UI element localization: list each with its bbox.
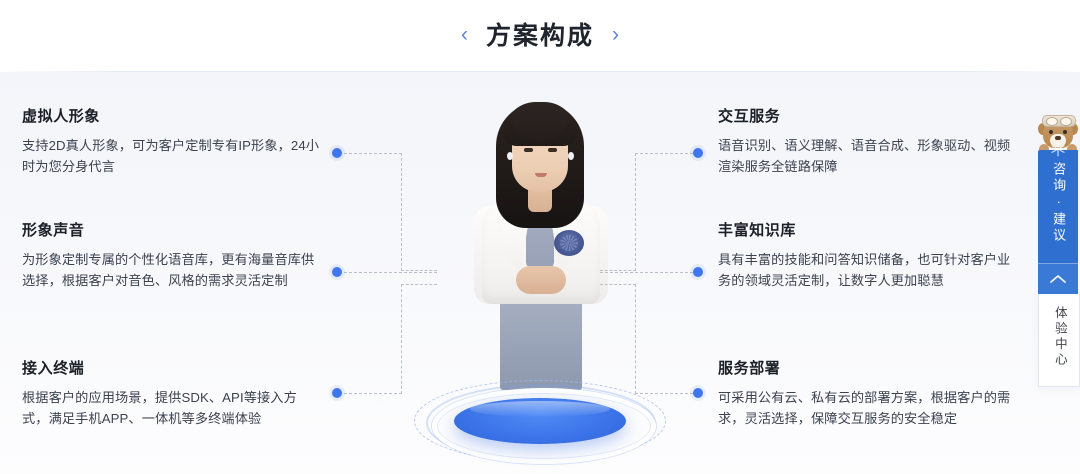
connector-left-join-lower xyxy=(401,284,437,285)
mascot-goggles-icon xyxy=(1042,115,1076,127)
mascot-eye-left xyxy=(1049,130,1053,134)
presenter-eye-left xyxy=(524,148,533,152)
feature-title: 虚拟人形象 xyxy=(22,108,322,126)
feature-description: 为形象定制专属的个性化语音库，更有海量音库供选择，根据客户对音色、风格的需求灵活… xyxy=(22,249,322,292)
feature-title: 交互服务 xyxy=(718,108,1018,126)
node-dot-left-3[interactable] xyxy=(332,388,342,398)
connector-left-1-horizontal xyxy=(344,153,402,154)
experience-center-button[interactable]: 体验中心 xyxy=(1038,294,1080,387)
feature-title: 服务部署 xyxy=(718,360,1018,378)
node-dot-left-2[interactable] xyxy=(332,267,342,277)
collapse-button[interactable] xyxy=(1038,263,1078,294)
consult-button-label: 咨询·建议 xyxy=(1051,162,1065,244)
page-title: 方案构成 xyxy=(486,16,594,52)
feature-description: 具有丰富的技能和问答知识储备，也可针对客户业务的领域灵活定制，让数字人更加聪慧 xyxy=(718,249,1018,292)
page-root: ‹ 方案构成 › xyxy=(0,0,1080,474)
feature-card-deployment: 服务部署 可采用公有云、私有云的部署方案，根据客户的需求，灵活选择，保障交互服务… xyxy=(718,360,1018,474)
right-feature-column: 交互服务 语音识别、语义理解、语音合成、形象驱动、视频渲染服务全链路保障 丰富知… xyxy=(718,108,1018,474)
presenter-hands xyxy=(516,266,566,294)
feature-card-terminal: 接入终端 根据客户的应用场景，提供SDK、API等接入方式，满足手机APP、一体… xyxy=(22,360,322,474)
connector-right-join-lower xyxy=(600,284,636,285)
mascot-eye-right xyxy=(1063,130,1067,134)
presenter-brooch xyxy=(554,230,584,256)
left-feature-column: 虚拟人形象 支持2D真人形象，可为客户定制专有IP形象，24小时为您分身代言 形… xyxy=(22,108,322,474)
connector-left-join-upper xyxy=(401,270,437,271)
feature-description: 语音识别、语义理解、语音合成、形象驱动、视频渲染服务全链路保障 xyxy=(718,135,1018,178)
experience-center-label: 体验中心 xyxy=(1052,306,1066,368)
feature-title: 丰富知识库 xyxy=(718,222,1018,240)
connector-left-vertical-lower xyxy=(401,284,402,394)
node-dot-right-1[interactable] xyxy=(693,148,703,158)
feature-title: 接入终端 xyxy=(22,360,322,378)
feature-description: 可采用公有云、私有云的部署方案，根据客户的需求，灵活选择，保障交互服务的安全稳定 xyxy=(718,387,1018,430)
background-divider xyxy=(0,71,1080,72)
section-title-row: ‹ 方案构成 › xyxy=(461,16,619,52)
node-dot-left-1[interactable] xyxy=(332,148,342,158)
connector-left-3-horizontal xyxy=(344,393,402,394)
connector-left-2-horizontal xyxy=(344,272,437,273)
connector-left-vertical-upper xyxy=(401,153,402,271)
chevron-left-icon[interactable]: ‹ xyxy=(461,24,468,45)
presenter-earring-right xyxy=(568,152,574,160)
feature-card-interaction: 交互服务 语音识别、语义理解、语音合成、形象驱动、视频渲染服务全链路保障 xyxy=(718,108,1018,204)
presenter-eye-right xyxy=(548,148,557,152)
connector-right-2-horizontal xyxy=(600,272,693,273)
presenter-earring-left xyxy=(507,152,513,160)
feature-description: 根据客户的应用场景，提供SDK、API等接入方式，满足手机APP、一体机等多终端… xyxy=(22,387,322,430)
feature-title: 形象声音 xyxy=(22,222,322,240)
virtual-human-figure xyxy=(410,78,670,474)
presenter-illustration xyxy=(444,78,636,408)
snowflake-icon xyxy=(1049,140,1067,158)
presenter-hair-front xyxy=(504,102,576,146)
feature-card-knowledge: 丰富知识库 具有丰富的技能和问答知识储备，也可针对客户业务的领域灵活定制，让数字… xyxy=(718,222,1018,342)
connector-right-vertical-upper xyxy=(635,153,636,271)
node-dot-right-3[interactable] xyxy=(693,388,703,398)
connector-right-1-horizontal xyxy=(635,153,693,154)
connector-right-join-upper xyxy=(600,270,636,271)
connector-right-3-horizontal xyxy=(635,393,693,394)
stage-platform xyxy=(410,374,670,470)
section-title-wrapper: ‹ 方案构成 › xyxy=(0,16,1080,52)
stage-disc-highlight xyxy=(470,401,610,417)
chevron-right-icon[interactable]: › xyxy=(612,24,619,45)
chevron-up-icon xyxy=(1049,273,1067,285)
node-dot-right-2[interactable] xyxy=(693,267,703,277)
feature-card-virtual-human: 虚拟人形象 支持2D真人形象，可为客户定制专有IP形象，24小时为您分身代言 xyxy=(22,108,322,204)
connector-right-vertical-lower xyxy=(635,284,636,394)
feature-card-voice: 形象声音 为形象定制专属的个性化语音库，更有海量音库供选择，根据客户对音色、风格… xyxy=(22,222,322,342)
consult-button[interactable]: 咨询·建议 xyxy=(1038,150,1078,263)
floating-side-widget: 咨询·建议 体验中心 xyxy=(1036,150,1080,387)
feature-description: 支持2D真人形象，可为客户定制专有IP形象，24小时为您分身代言 xyxy=(22,135,322,178)
